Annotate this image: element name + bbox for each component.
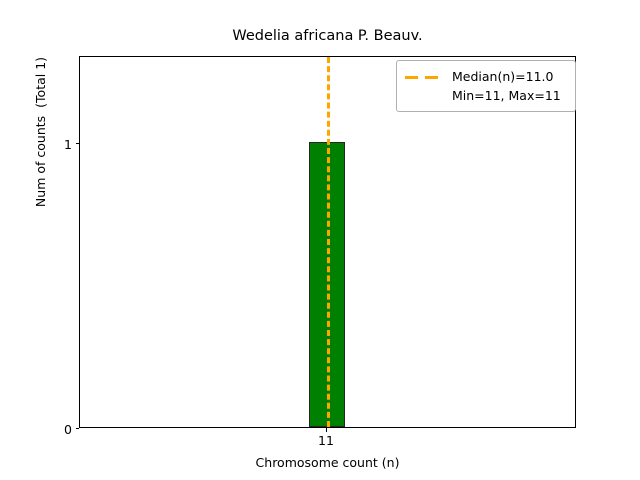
ytick-mark-0 bbox=[76, 428, 80, 429]
xtick-label-11: 11 bbox=[296, 433, 356, 448]
legend-label-median: Median(n)=11.0 bbox=[452, 69, 553, 84]
y-axis-label: Num of counts (Total 1) bbox=[20, 0, 60, 282]
figure-canvas: Wedelia africana P. Beauv. 0 1 11 Chromo… bbox=[0, 0, 640, 480]
legend-label-minmax: Min=11, Max=11 bbox=[452, 88, 561, 103]
xtick-mark-11 bbox=[326, 428, 327, 432]
bar-series bbox=[80, 57, 575, 427]
ytick-label-0: 0 bbox=[12, 422, 72, 437]
median-line bbox=[327, 57, 330, 427]
y-axis-label-line2: (Total 1) bbox=[33, 57, 48, 108]
legend: Median(n)=11.0 Min=11, Max=11 bbox=[396, 60, 576, 112]
legend-entry-minmax: Min=11, Max=11 bbox=[404, 86, 567, 105]
y-axis-label-line1: Num of counts bbox=[33, 116, 48, 207]
legend-entry-median: Median(n)=11.0 bbox=[404, 67, 567, 86]
x-axis-label: Chromosome count (n) bbox=[79, 455, 576, 470]
dashed-line-icon bbox=[404, 71, 442, 83]
chart-title: Wedelia africana P. Beauv. bbox=[79, 28, 576, 44]
